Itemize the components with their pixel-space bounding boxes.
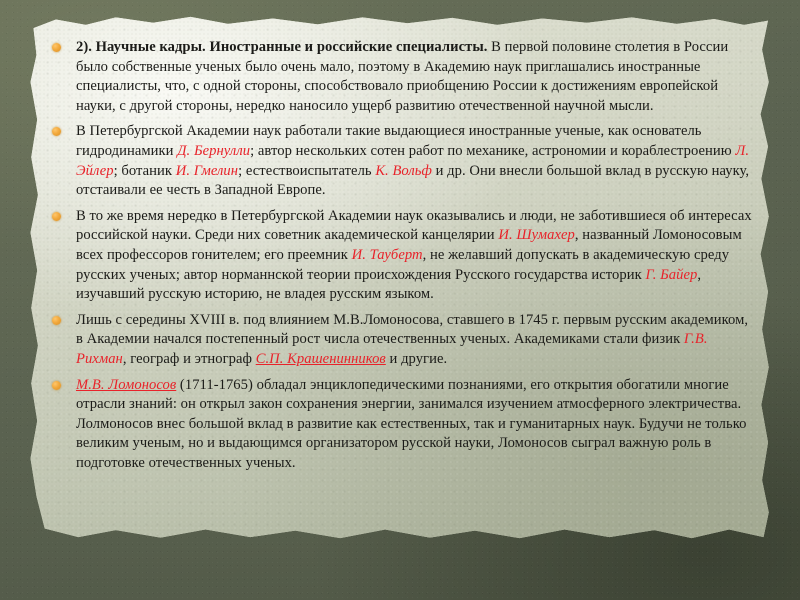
text-run: (1711-1765) обладал энциклопедическими п… <box>76 377 746 471</box>
slide-content: 2). Научные кадры. Иностранные и российс… <box>52 38 752 479</box>
scientist-name: Д. Бернулли <box>177 143 250 159</box>
paragraph-text: 2). Научные кадры. Иностранные и российс… <box>76 38 752 116</box>
paragraph-text: В Петербургской Академии наук работали т… <box>76 122 752 200</box>
bullet-dot-icon <box>52 316 61 325</box>
bullet-dot-icon <box>52 43 61 52</box>
scientist-name: К. Вольф <box>375 163 432 179</box>
text-run: и другие. <box>386 351 447 367</box>
scientist-name: И. Гмелин <box>176 163 238 179</box>
scientist-name: И. Тауберт <box>352 247 423 263</box>
text-run: ; автор нескольких сотен работ по механи… <box>250 143 735 159</box>
list-item: Лишь с середины XVIII в. под влиянием М.… <box>52 311 752 370</box>
bullet-dot-icon <box>52 381 61 390</box>
scientist-name: Г. Байер <box>645 267 697 283</box>
list-item: 2). Научные кадры. Иностранные и российс… <box>52 38 752 116</box>
scientist-name: С.П. Крашенинников <box>256 351 386 367</box>
list-item: В Петербургской Академии наук работали т… <box>52 122 752 200</box>
bullet-dot-icon <box>52 127 61 136</box>
text-run: ; ботаник <box>114 163 176 179</box>
text-run: Лишь с середины XVIII в. под влиянием М.… <box>76 312 748 348</box>
list-item: М.В. Ломоносов (1711-1765) обладал энцик… <box>52 376 752 474</box>
scientist-name: И. Шумахер <box>498 227 575 243</box>
list-item: В то же время нередко в Петербургской Ак… <box>52 207 752 305</box>
slide-canvas: 2). Научные кадры. Иностранные и российс… <box>0 0 800 600</box>
paragraph-text: В то же время нередко в Петербургской Ак… <box>76 207 752 305</box>
text-run: ; естествоиспытатель <box>238 163 375 179</box>
paragraph-text: М.В. Ломоносов (1711-1765) обладал энцик… <box>76 376 752 474</box>
text-run: , географ и этнограф <box>123 351 256 367</box>
bullet-dot-icon <box>52 212 61 221</box>
bold-run: 2). Научные кадры. Иностранные и российс… <box>76 39 487 55</box>
paragraph-text: Лишь с середины XVIII в. под влиянием М.… <box>76 311 752 370</box>
scientist-name: М.В. Ломоносов <box>76 377 176 393</box>
